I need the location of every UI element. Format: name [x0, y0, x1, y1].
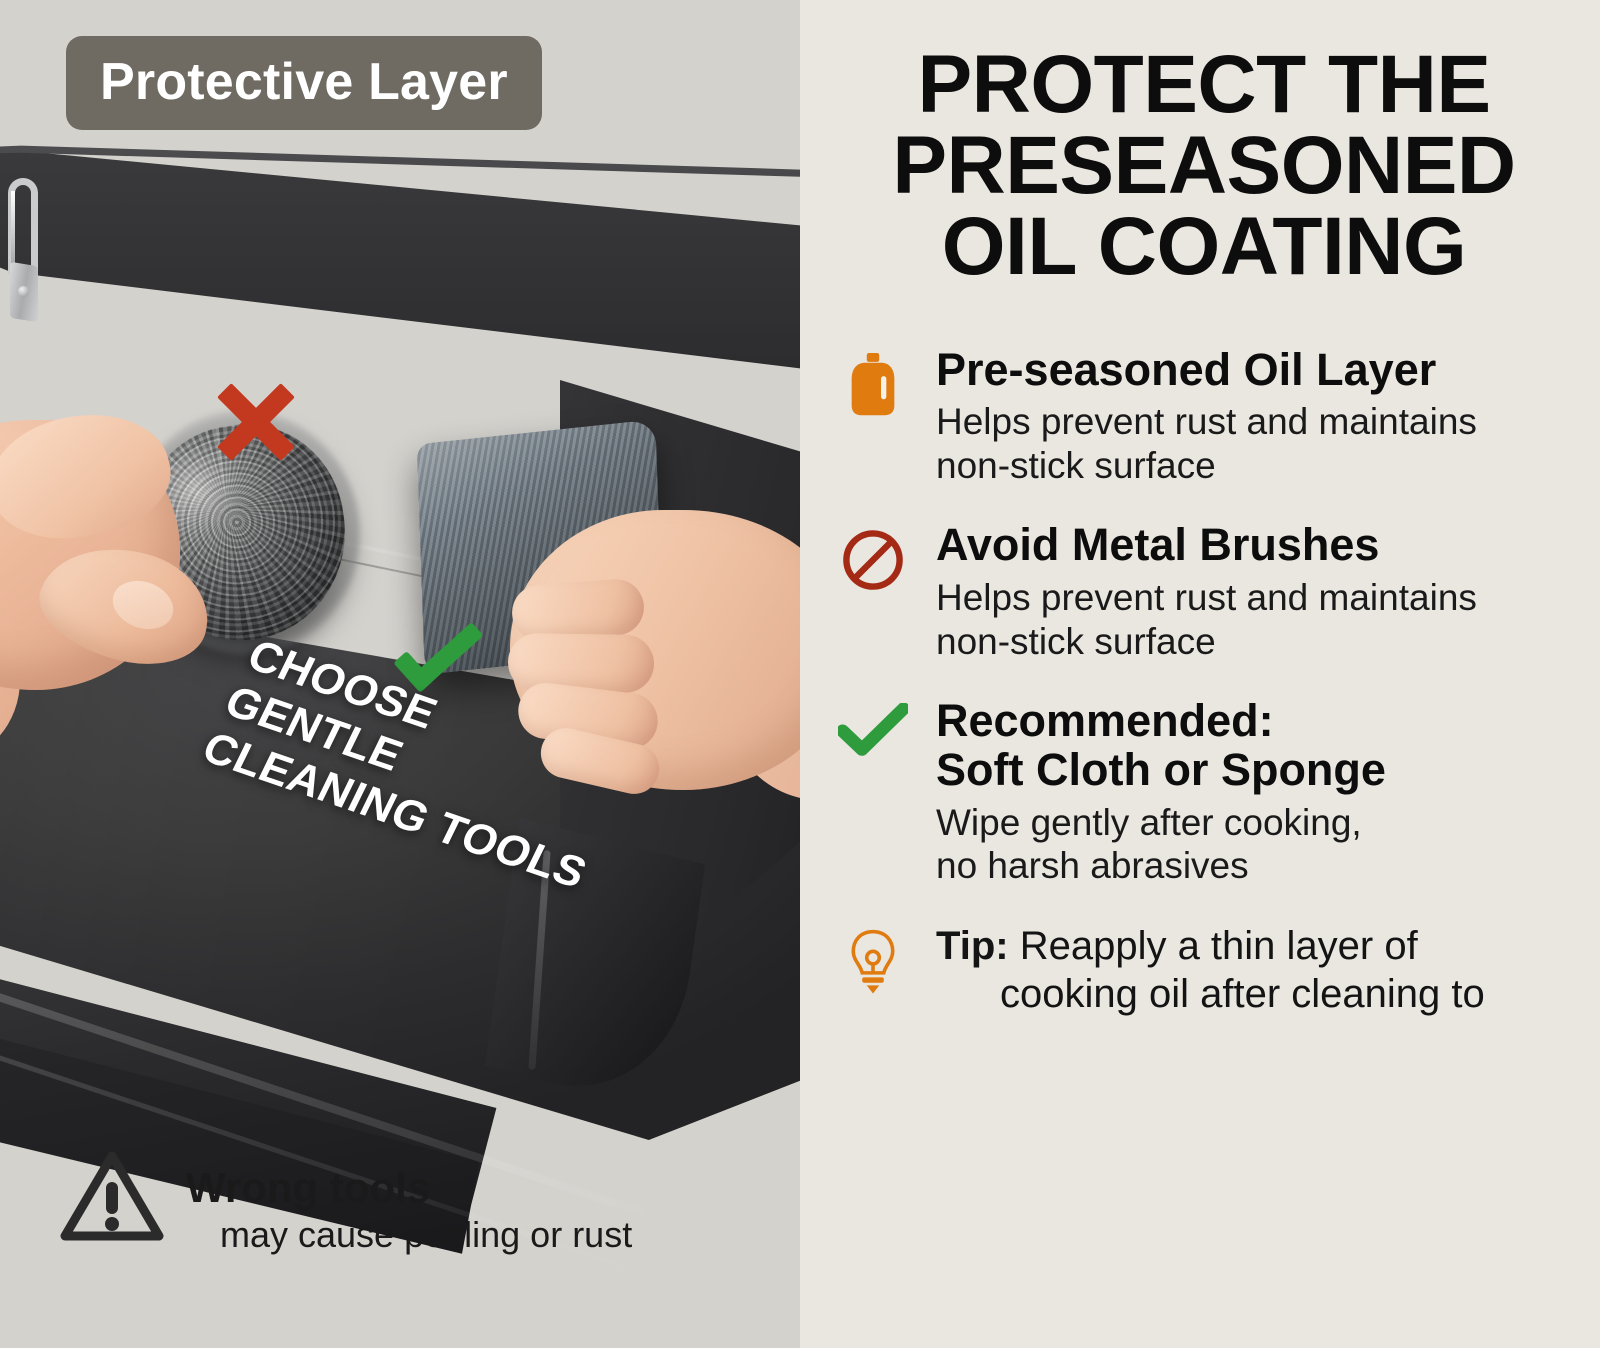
list-item: Pre-seasoned Oil Layer Helps prevent rus… — [836, 346, 1572, 488]
list-item-title: Avoid Metal Brushes — [936, 521, 1572, 570]
protective-layer-chip-label: Protective Layer — [100, 53, 508, 111]
tip-line-1: Reapply a thin layer of — [1020, 924, 1418, 968]
tip-label: Tip: — [936, 924, 1009, 968]
tip-line-2: cooking oil after cleaning to — [1000, 970, 1485, 1018]
list-item-title: Pre-seasoned Oil Layer — [936, 346, 1572, 395]
list-item-body: Avoid Metal Brushes Helps prevent rust a… — [936, 521, 1572, 663]
list-item-desc: Helps prevent rust and maintains non-sti… — [936, 576, 1572, 663]
warning-triangle-icon — [60, 1148, 164, 1244]
no-entry-icon — [836, 521, 910, 593]
right-finger-middle — [508, 633, 655, 694]
list-item: Recommended: Soft Cloth or Sponge Wipe g… — [836, 697, 1572, 888]
lightbulb-icon — [836, 922, 910, 998]
hook-bar — [8, 178, 38, 274]
list-item-title: Recommended: Soft Cloth or Sponge — [936, 697, 1572, 794]
green-check-icon — [398, 624, 484, 686]
oil-bottle-icon — [836, 346, 910, 418]
wrong-tools-warning: Wrong tools may cause peeling or rust — [60, 1148, 632, 1255]
check-stroke-long — [418, 622, 484, 684]
green-check-icon — [836, 697, 910, 757]
warning-subtitle: may cause peeling or rust — [220, 1214, 632, 1255]
right-hand-with-cloth — [470, 470, 800, 830]
protective-layer-chip: Protective Layer — [66, 36, 542, 130]
list-item-body: Pre-seasoned Oil Layer Helps prevent rus… — [936, 346, 1572, 488]
red-x-icon — [214, 380, 298, 464]
benefits-list: Pre-seasoned Oil Layer Helps prevent rus… — [836, 346, 1572, 888]
griddle-hook — [2, 178, 44, 298]
infographic-page: CHOOSE GENTLE CLEANING TOOLS Protective … — [0, 0, 1600, 1348]
list-item: Avoid Metal Brushes Helps prevent rust a… — [836, 521, 1572, 663]
page-title: PROTECT THE PRESEASONED OIL COATING — [836, 44, 1572, 288]
tip-text: Tip: Reapply a thin layer of cooking oil… — [936, 922, 1485, 1018]
warning-title: Wrong tools — [186, 1166, 632, 1210]
tip-block: Tip: Reapply a thin layer of cooking oil… — [836, 922, 1572, 1018]
list-item-desc: Helps prevent rust and maintains non-sti… — [936, 400, 1572, 487]
hook-screw — [18, 286, 29, 297]
left-photo-panel: CHOOSE GENTLE CLEANING TOOLS Protective … — [0, 0, 800, 1348]
right-info-panel: PROTECT THE PRESEASONED OIL COATING Pre-… — [800, 0, 1600, 1348]
warning-text-block: Wrong tools may cause peeling or rust — [186, 1148, 632, 1255]
list-item-desc: Wipe gently after cooking, no harsh abra… — [936, 801, 1572, 888]
left-hand-holding-steel-wool — [0, 400, 240, 730]
list-item-body: Recommended: Soft Cloth or Sponge Wipe g… — [936, 697, 1572, 888]
